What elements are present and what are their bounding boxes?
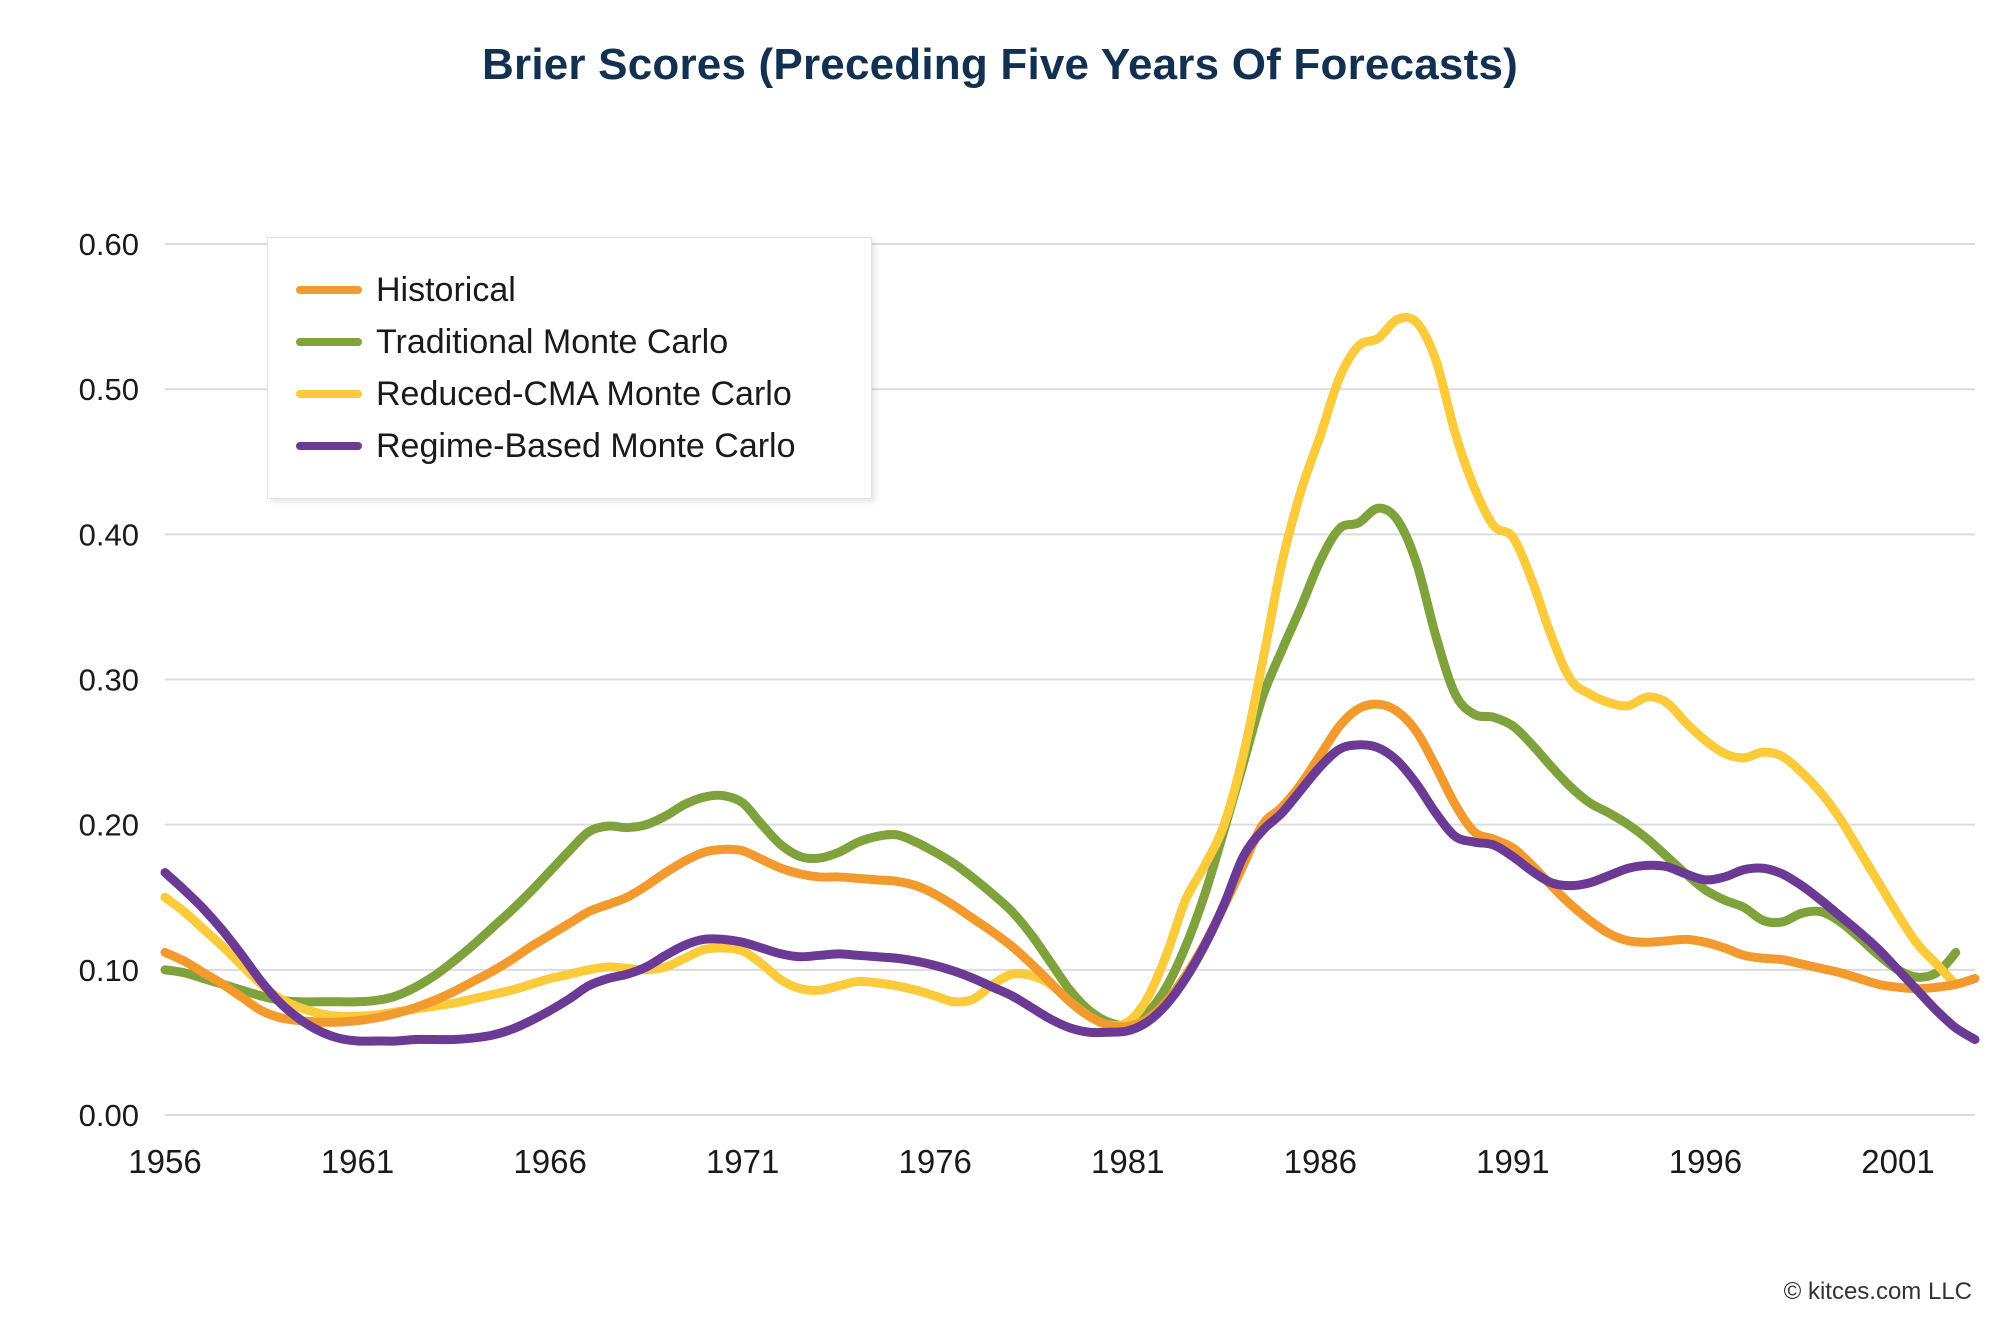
x-axis-tick-label: 1986 [1284,1143,1357,1180]
legend-color-swatch [296,338,362,346]
x-axis-tick-label: 2001 [1861,1143,1934,1180]
legend-item[interactable]: Historical [296,264,843,316]
legend-color-swatch [296,390,362,398]
x-axis-tick-label: 1991 [1476,1143,1549,1180]
legend-item-label: Regime-Based Monte Carlo [376,427,796,466]
y-axis-tick-label: 0.30 [79,663,139,698]
legend-color-swatch [296,442,362,450]
y-axis-tick-label: 0.00 [79,1098,139,1133]
y-axis-tick-label: 0.60 [79,227,139,262]
y-axis-tick-label: 0.40 [79,517,139,552]
chart-legend: HistoricalTraditional Monte CarloReduced… [267,237,872,499]
y-axis-tick-label: 0.50 [79,372,139,407]
x-axis-tick-label: 1976 [899,1143,972,1180]
x-axis-tick-label: 1961 [321,1143,394,1180]
x-axis-tick-label: 1956 [128,1143,201,1180]
y-axis-tick-label: 0.10 [79,953,139,988]
legend-item[interactable]: Traditional Monte Carlo [296,316,843,368]
legend-item-label: Traditional Monte Carlo [376,323,728,362]
legend-item[interactable]: Reduced-CMA Monte Carlo [296,368,843,420]
x-axis-tick-label: 1981 [1091,1143,1164,1180]
legend-color-swatch [296,286,362,294]
legend-item-label: Reduced-CMA Monte Carlo [376,375,792,414]
y-axis-tick-label: 0.20 [79,808,139,843]
chart-container: Brier Scores (Preceding Five Years Of Fo… [0,0,2000,1322]
chart-plot-area: 0.000.100.200.300.400.500.60195619611966… [0,0,2000,1200]
legend-item-label: Historical [376,271,516,310]
copyright-credit: © kitces.com LLC [1784,1278,1972,1306]
x-axis-tick-label: 1996 [1669,1143,1742,1180]
x-axis-tick-label: 1971 [706,1143,779,1180]
legend-item[interactable]: Regime-Based Monte Carlo [296,420,843,472]
x-axis-tick-label: 1966 [513,1143,586,1180]
series-line-traditional-monte-carlo [165,508,1956,1025]
